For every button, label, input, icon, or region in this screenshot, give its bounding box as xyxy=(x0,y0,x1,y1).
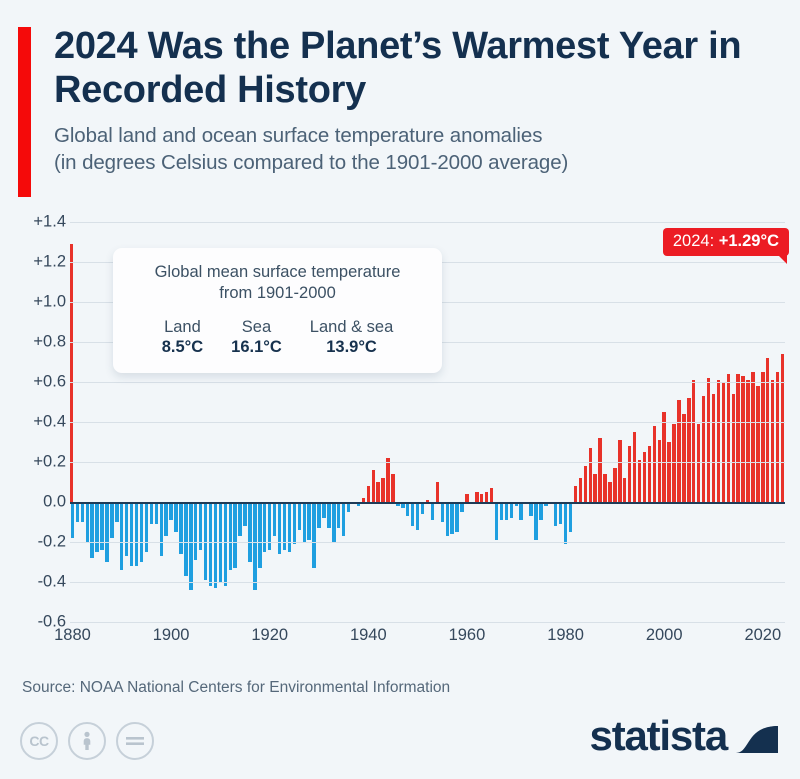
bar xyxy=(160,502,163,556)
bar xyxy=(125,502,128,556)
bar xyxy=(81,502,84,522)
y-tick-label: -0.2 xyxy=(4,533,66,552)
y-axis-labels: +1.4+1.2+1.0+0.8+0.6+0.4+0.20.0-0.2-0.4-… xyxy=(0,222,66,622)
bar xyxy=(741,376,744,502)
bar xyxy=(278,502,281,554)
bar xyxy=(391,474,394,502)
bar xyxy=(421,502,424,514)
bar xyxy=(732,394,735,502)
bar xyxy=(120,502,123,570)
bar xyxy=(603,474,606,502)
y-tick-label: +0.8 xyxy=(4,333,66,352)
info-card-title: Global mean surface temperature from 190… xyxy=(123,262,432,303)
x-tick-label: 1960 xyxy=(449,626,486,645)
bar xyxy=(258,502,261,568)
bar xyxy=(214,502,217,588)
bar xyxy=(712,394,715,502)
bar xyxy=(574,486,577,502)
bar xyxy=(648,446,651,502)
cc-icon[interactable]: CC xyxy=(20,722,58,760)
bar xyxy=(71,502,74,538)
bar xyxy=(204,502,207,580)
y-tick-label: +0.2 xyxy=(4,453,66,472)
bar xyxy=(781,354,784,502)
x-tick-label: 1940 xyxy=(350,626,387,645)
bar xyxy=(238,502,241,536)
bar xyxy=(105,502,108,562)
y-tick-label: +0.6 xyxy=(4,373,66,392)
bar xyxy=(692,380,695,502)
bar xyxy=(298,502,301,530)
page-title: 2024 Was the Planet’s Warmest Year in Re… xyxy=(54,24,780,112)
bar xyxy=(564,502,567,544)
page-subtitle: Global land and ocean surface temperatur… xyxy=(54,122,780,176)
bar xyxy=(436,482,439,502)
x-tick-label: 1980 xyxy=(547,626,584,645)
info-card: Global mean surface temperature from 190… xyxy=(113,248,442,373)
info-card-stat: Land & sea13.9°C xyxy=(310,318,393,357)
info-card-stat-value: 13.9°C xyxy=(310,338,393,357)
header: 2024 Was the Planet’s Warmest Year in Re… xyxy=(54,24,780,176)
info-card-stat: Land8.5°C xyxy=(162,318,203,357)
bar xyxy=(672,424,675,502)
statista-mark-icon xyxy=(736,720,778,753)
bar xyxy=(169,502,172,520)
bar xyxy=(623,478,626,502)
highlight-badge-label: 2024: xyxy=(673,232,719,250)
bar xyxy=(303,502,306,542)
info-card-stats: Land8.5°CSea16.1°CLand & sea13.9°C xyxy=(123,318,432,357)
highlight-badge-tail xyxy=(778,255,787,264)
equals-glyph xyxy=(125,734,145,748)
bar xyxy=(441,502,444,522)
bar xyxy=(658,440,661,502)
bar xyxy=(347,502,350,512)
bar xyxy=(95,502,98,552)
bar xyxy=(416,502,419,530)
bar xyxy=(687,398,690,502)
bar xyxy=(579,478,582,502)
bar xyxy=(342,502,345,536)
x-tick-label: 1920 xyxy=(251,626,288,645)
gridline xyxy=(70,422,785,423)
bar xyxy=(534,502,537,540)
bar xyxy=(539,502,542,520)
bar xyxy=(761,372,764,502)
bar xyxy=(618,440,621,502)
bar xyxy=(584,466,587,502)
bar xyxy=(327,502,330,528)
bar xyxy=(707,378,710,502)
source-text: Source: NOAA National Centers for Enviro… xyxy=(22,679,450,697)
y-tick-label: +1.2 xyxy=(4,253,66,272)
info-card-stat-name: Sea xyxy=(231,318,282,337)
bar xyxy=(751,372,754,502)
y-tick-label: -0.4 xyxy=(4,573,66,592)
bar xyxy=(505,502,508,520)
y-tick-label: +1.0 xyxy=(4,293,66,312)
bar xyxy=(653,426,656,502)
bar xyxy=(317,502,320,528)
bar xyxy=(135,502,138,566)
bar xyxy=(130,502,133,566)
bar xyxy=(229,502,232,570)
bar xyxy=(776,372,779,502)
bar xyxy=(248,502,251,562)
bar xyxy=(337,502,340,528)
highlight-badge-value: +1.29°C xyxy=(719,232,779,250)
gridline xyxy=(70,222,785,223)
zero-axis-line xyxy=(70,502,785,504)
bar xyxy=(293,502,296,544)
info-card-stat-value: 16.1°C xyxy=(231,338,282,357)
statista-logo[interactable]: statista xyxy=(590,712,778,760)
bar xyxy=(633,432,636,502)
gridline xyxy=(70,582,785,583)
bar xyxy=(243,502,246,526)
bar xyxy=(727,374,730,502)
bar xyxy=(613,468,616,502)
bar xyxy=(322,502,325,518)
bar xyxy=(115,502,118,522)
bar xyxy=(455,502,458,532)
bar xyxy=(702,396,705,502)
bar xyxy=(450,502,453,534)
bar xyxy=(381,478,384,502)
bar xyxy=(90,502,93,558)
bar xyxy=(179,502,182,554)
bar xyxy=(510,502,513,518)
bar xyxy=(145,502,148,552)
bar xyxy=(189,502,192,590)
bar xyxy=(273,502,276,536)
bar xyxy=(490,488,493,502)
cc-nd-equals-icon[interactable] xyxy=(116,722,154,760)
bar xyxy=(376,482,379,502)
bar xyxy=(736,374,739,502)
bar xyxy=(76,502,79,522)
bar xyxy=(164,502,167,536)
creative-commons-badges: CC xyxy=(20,722,154,760)
bar xyxy=(589,448,592,502)
bar xyxy=(411,502,414,526)
bar xyxy=(697,424,700,502)
bar xyxy=(233,502,236,568)
bar xyxy=(372,470,375,502)
x-tick-label: 1880 xyxy=(54,626,91,645)
info-card-stat-name: Land & sea xyxy=(310,318,393,337)
info-card-stat-name: Land xyxy=(162,318,203,337)
bar xyxy=(332,502,335,542)
bar xyxy=(386,458,389,502)
bar xyxy=(722,382,725,502)
bar xyxy=(746,380,749,502)
bar xyxy=(529,502,532,516)
gridline xyxy=(70,462,785,463)
gridline xyxy=(70,382,785,383)
bar xyxy=(224,502,227,586)
x-tick-label: 2000 xyxy=(646,626,683,645)
bar xyxy=(766,358,769,502)
bar xyxy=(312,502,315,568)
bar xyxy=(174,502,177,532)
bar xyxy=(559,502,562,524)
bar xyxy=(155,502,158,524)
bar xyxy=(263,502,266,552)
bar xyxy=(446,502,449,536)
bar xyxy=(662,412,665,502)
bar xyxy=(209,502,212,586)
subtitle-line-1: Global land and ocean surface temperatur… xyxy=(54,122,780,149)
bar xyxy=(460,502,463,512)
x-tick-label: 1900 xyxy=(153,626,190,645)
bar xyxy=(70,244,73,502)
info-card-stat: Sea16.1°C xyxy=(231,318,282,357)
bar xyxy=(593,474,596,502)
cc-by-person-icon[interactable] xyxy=(68,722,106,760)
bar xyxy=(677,400,680,502)
bar xyxy=(140,502,143,562)
subtitle-line-2: (in degrees Celsius compared to the 1901… xyxy=(54,149,780,176)
gridline xyxy=(70,622,785,623)
bar xyxy=(253,502,256,590)
bar xyxy=(480,494,483,502)
bar xyxy=(628,446,631,502)
bar xyxy=(608,482,611,502)
bar xyxy=(771,380,774,502)
y-tick-label: +0.4 xyxy=(4,413,66,432)
accent-bar xyxy=(18,27,31,197)
bar xyxy=(307,502,310,540)
bar xyxy=(406,502,409,516)
statista-wordmark: statista xyxy=(590,712,727,760)
bar xyxy=(431,502,434,520)
bar xyxy=(500,502,503,520)
bar xyxy=(643,452,646,502)
bar xyxy=(682,414,685,502)
highlight-badge: 2024: +1.29°C xyxy=(663,228,789,256)
gridline xyxy=(70,542,785,543)
bar xyxy=(150,502,153,524)
bar xyxy=(569,502,572,532)
bar xyxy=(638,460,641,502)
bar xyxy=(519,502,522,520)
bar xyxy=(554,502,557,526)
x-axis-labels: 18801900192019401960198020002020 xyxy=(70,626,785,656)
bar xyxy=(485,492,488,502)
y-tick-label: +1.4 xyxy=(4,213,66,232)
bar xyxy=(717,380,720,502)
bar xyxy=(367,486,370,502)
bar xyxy=(475,492,478,502)
bar xyxy=(465,494,468,502)
x-tick-label: 2020 xyxy=(744,626,781,645)
bar xyxy=(194,502,197,560)
bar xyxy=(598,438,601,502)
bar xyxy=(86,502,89,542)
y-tick-label: 0.0 xyxy=(4,493,66,512)
infographic-page: 2024 Was the Planet’s Warmest Year in Re… xyxy=(0,0,800,779)
info-card-title-line-1: Global mean surface temperature xyxy=(123,262,432,283)
bar xyxy=(184,502,187,576)
bar xyxy=(495,502,498,540)
person-glyph xyxy=(79,731,95,751)
bar xyxy=(110,502,113,538)
bar xyxy=(288,502,291,552)
info-card-stat-value: 8.5°C xyxy=(162,338,203,357)
info-card-title-line-2: from 1901-2000 xyxy=(123,283,432,304)
bar xyxy=(756,386,759,502)
bar xyxy=(667,442,670,502)
